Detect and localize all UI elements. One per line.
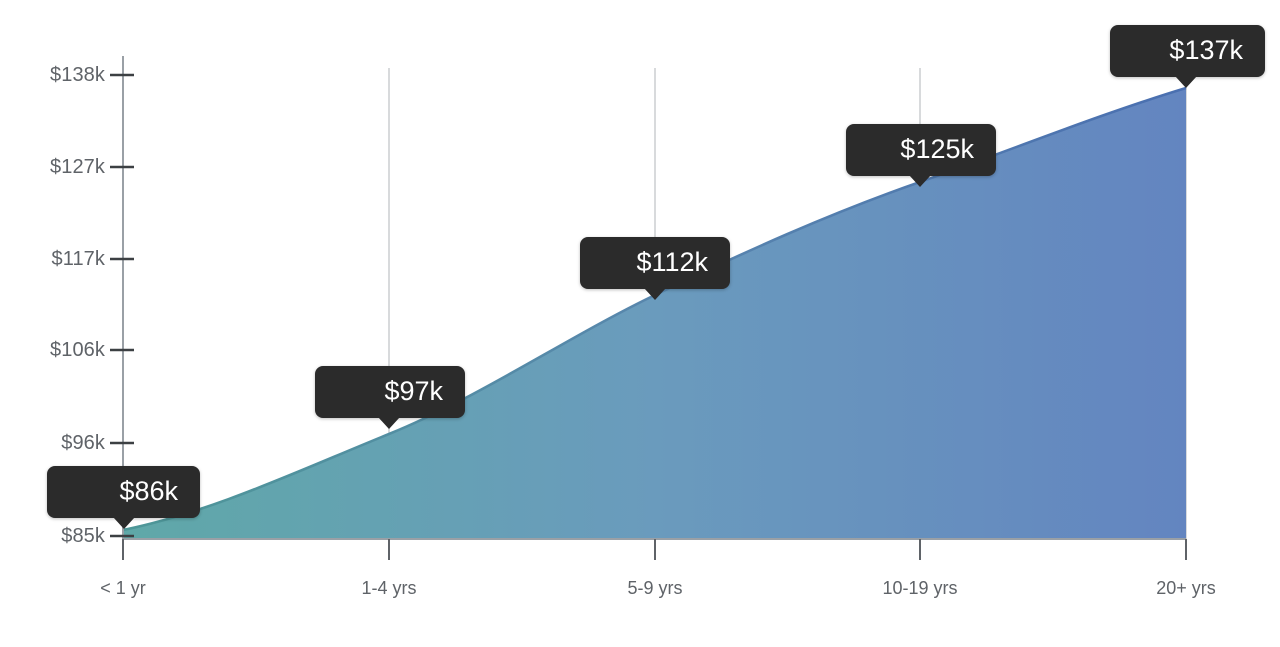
x-tick-label-1-4-yrs: 1-4 yrs [309, 578, 469, 598]
y-tick-label-127k: $127k [0, 157, 105, 177]
tooltip-pointer-icon [644, 288, 666, 300]
data-label-tooltip-125k[interactable]: $125k [846, 124, 996, 176]
tooltip-pointer-icon [1175, 76, 1197, 88]
salary-by-experience-area-chart: $138k $127k $117k $106k $96k $85k < 1 yr… [0, 0, 1280, 647]
data-label-text: $137k [1169, 35, 1243, 65]
x-tick-label-20-plus-yrs: 20+ yrs [1106, 578, 1266, 598]
x-tick-label-lt-1-yr: < 1 yr [43, 578, 203, 598]
data-label-text: $97k [384, 376, 443, 406]
y-tick-label-85k: $85k [0, 526, 105, 546]
x-tick-label-10-19-yrs: 10-19 yrs [840, 578, 1000, 598]
y-tick-label-96k: $96k [0, 433, 105, 453]
data-label-tooltip-86k[interactable]: $86k [47, 466, 200, 518]
tooltip-pointer-icon [378, 417, 400, 429]
data-label-tooltip-97k[interactable]: $97k [315, 366, 465, 418]
y-tick-label-106k: $106k [0, 340, 105, 360]
data-label-tooltip-137k[interactable]: $137k [1110, 25, 1265, 77]
data-label-tooltip-112k[interactable]: $112k [580, 237, 730, 289]
x-tick-label-5-9-yrs: 5-9 yrs [575, 578, 735, 598]
chart-plot-area [0, 0, 1280, 647]
y-tick-label-138k: $138k [0, 65, 105, 85]
data-label-text: $125k [900, 134, 974, 164]
x-axis-ticks [123, 539, 1186, 560]
tooltip-pointer-icon [113, 517, 135, 529]
tooltip-pointer-icon [909, 175, 931, 187]
data-label-text: $112k [636, 247, 708, 277]
y-tick-label-117k: $117k [0, 249, 105, 269]
data-label-text: $86k [119, 476, 178, 506]
